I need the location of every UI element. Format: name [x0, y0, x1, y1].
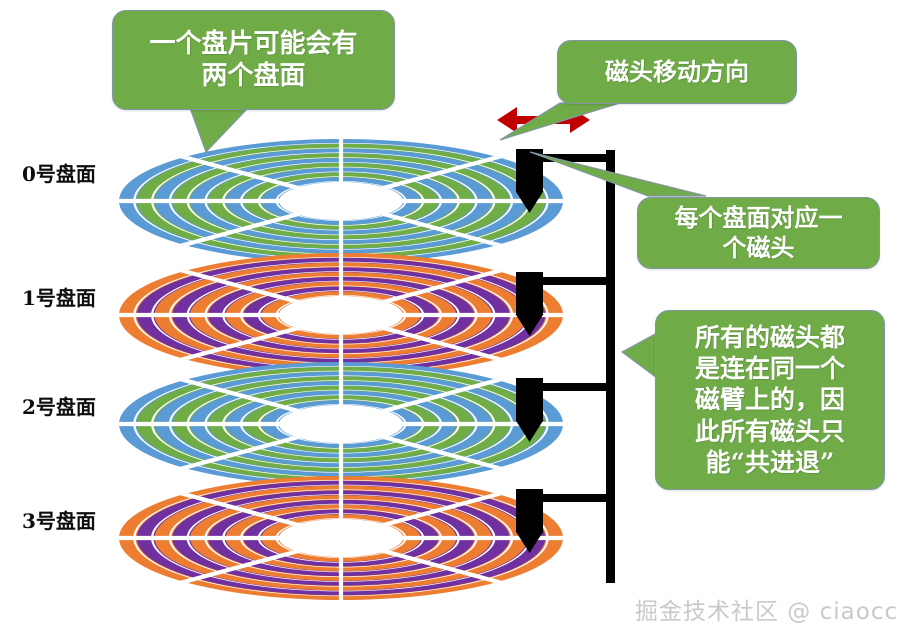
platter-0	[108, 136, 574, 266]
platter-3	[108, 473, 574, 603]
callout-arm-note: 所有的磁头都是连在同一个磁臂上的，因此所有磁头只能“共进退”	[655, 310, 885, 490]
read-write-head-2	[516, 378, 616, 442]
callout-head-direction: 磁头移动方向	[557, 40, 797, 104]
spindle-hub-top	[279, 519, 403, 557]
read-write-head-3	[516, 489, 616, 553]
read-write-head-0	[516, 149, 616, 213]
platter-1	[108, 250, 574, 380]
callout-tail-arm-note	[622, 333, 657, 378]
platter-label-0: 0号盘面	[22, 158, 96, 187]
watermark: 掘金技术社区 @ ciaocc	[635, 592, 898, 626]
arm-spine	[606, 150, 615, 583]
spindle-hub-top	[279, 405, 403, 443]
platter-label-1: 1号盘面	[22, 282, 96, 311]
platters-group	[108, 136, 574, 603]
spindle-hub-top	[279, 182, 403, 220]
head-body	[516, 272, 543, 314]
callout-platter-note: 一个盘片可能会有两个盘面	[112, 10, 395, 110]
disk-platter-diagram: 0号盘面 1号盘面 2号盘面 3号盘面 一个盘片可能会有两个盘面 磁头移动方向 …	[0, 0, 914, 636]
callout-arm-note-text: 所有的磁头都是连在同一个磁臂上的，因此所有磁头只能“共进退”	[656, 322, 884, 478]
spindle-hub-top	[279, 296, 403, 334]
callout-surface-head-text: 每个盘面对应一个磁头	[638, 203, 879, 263]
head-body	[516, 378, 543, 420]
platter-label-2: 2号盘面	[22, 391, 96, 420]
callout-platter-note-text: 一个盘片可能会有两个盘面	[113, 28, 394, 93]
platter-2	[108, 359, 574, 489]
read-write-head-1	[516, 272, 616, 336]
callout-tail-platter-note	[190, 108, 248, 152]
platter-label-3: 3号盘面	[22, 505, 96, 534]
callout-head-direction-text: 磁头移动方向	[558, 57, 796, 87]
callout-surface-head: 每个盘面对应一个磁头	[637, 197, 880, 269]
direction-arrow-left-icon	[497, 107, 517, 133]
head-body	[516, 489, 543, 531]
